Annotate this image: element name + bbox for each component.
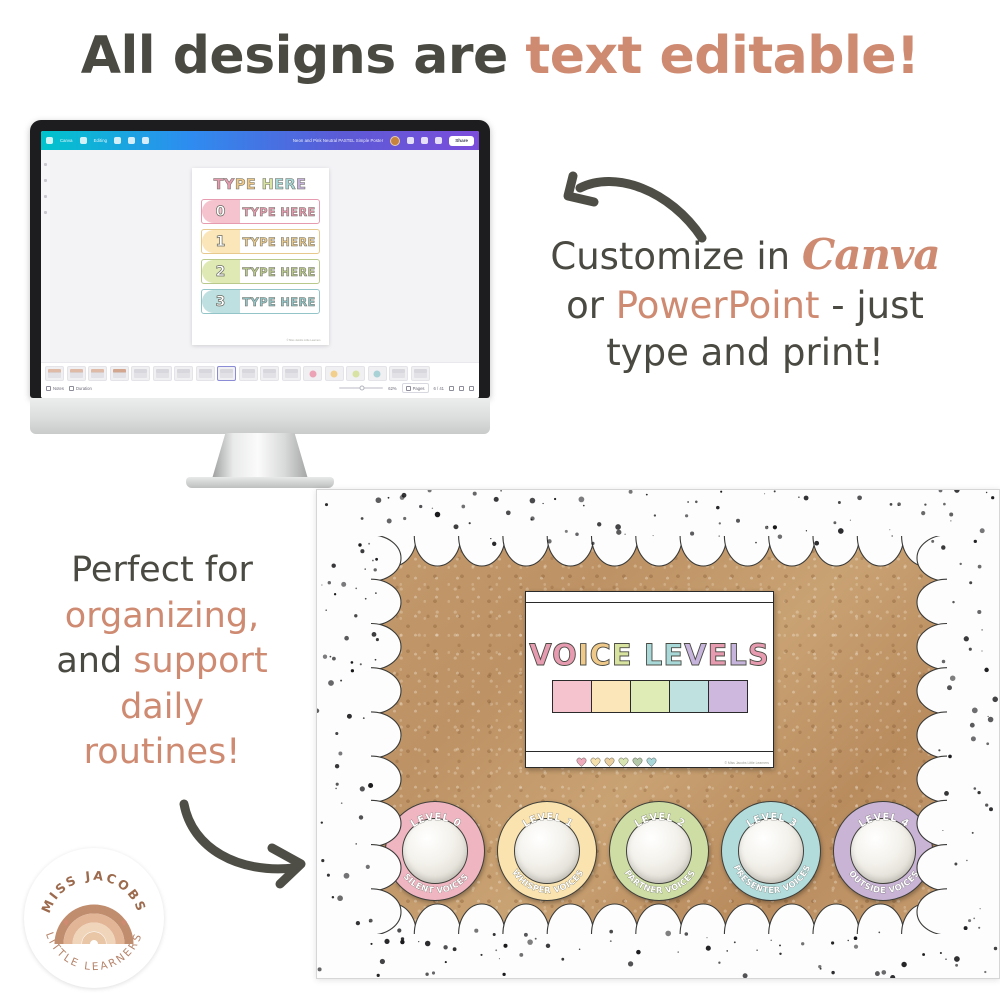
page-thumbnail[interactable] (131, 366, 150, 381)
monitor-screen: Canva Editing Neon and Pink Neutral PAST… (41, 131, 479, 398)
cloud-saved-icon (142, 137, 149, 144)
page-counter: 6 / 41 (434, 386, 444, 391)
headline-plain: All designs are (81, 26, 526, 86)
slide-level-number: 2 (216, 264, 226, 280)
share-button[interactable]: Share (449, 136, 474, 146)
slide-level-label[interactable]: TYPE HERE (240, 265, 319, 279)
slide-level-rows: 0TYPE HERE1TYPE HERE2TYPE HERE3TYPE HERE (201, 199, 320, 314)
page-thumbnail[interactable] (303, 366, 322, 381)
page-thumbnail[interactable] (174, 366, 193, 381)
computer-monitor-mockup: Canva Editing Neon and Pink Neutral PAST… (30, 120, 490, 475)
canva-bottom-panel: Notes Duration 62% Pages (41, 362, 479, 398)
canva-mode-editing[interactable]: Editing (94, 138, 108, 143)
powerpoint-wordmark: PowerPoint (616, 284, 820, 327)
left-caption: Perfect for organizing, and support dail… (14, 548, 310, 776)
canva-home-icon[interactable] (46, 137, 53, 144)
left-caption-line2: organizing, (14, 594, 310, 640)
slide-level-number: 0 (216, 204, 226, 220)
page-thumbnail-strip[interactable] (41, 363, 479, 381)
left-line3-plain: and (56, 641, 133, 681)
slide-title[interactable]: TYPE HERE (201, 178, 320, 193)
download-icon[interactable] (421, 137, 428, 144)
left-caption-line5: routines! (14, 730, 310, 776)
page-thumbnail[interactable] (325, 366, 344, 381)
canva-canvas-area: TYPE HERE 0TYPE HERE1TYPE HERE2TYPE HERE… (41, 150, 479, 362)
page-thumbnail[interactable] (110, 366, 129, 381)
slide-level-label[interactable]: TYPE HERE (240, 295, 319, 309)
avatar[interactable] (390, 136, 400, 146)
canva-wordmark: Canva (802, 230, 940, 279)
right-caption-line1: Customize in Canva (500, 228, 990, 282)
pencil-icon[interactable] (80, 137, 87, 144)
zoom-slider[interactable] (339, 387, 383, 389)
slide-credit: © Miss Jacobs Little Learners (286, 339, 320, 342)
slide-level-number-chip: 1 (202, 230, 240, 253)
page-thumbnail[interactable] (346, 366, 365, 381)
bulletin-board-photo: VOICE LEVELS © Miss Jacobs Little Learne… (316, 489, 1000, 979)
slide-level-number-chip: 2 (202, 260, 240, 283)
poster-canvas: All designs are text editable! Canva Edi… (0, 0, 1000, 1000)
plus-collaborator-icon[interactable] (407, 137, 414, 144)
headline-accent: text editable! (525, 26, 919, 86)
page-thumbnail[interactable] (45, 366, 64, 381)
speckle-dots (317, 490, 1000, 979)
logo-artwork: MISS JACOBS LITTLE LEARNERS (24, 848, 164, 988)
left-caption-line1: Perfect for (14, 548, 310, 594)
right-line1-plain: Customize in (550, 235, 801, 278)
duration-button[interactable]: Duration (69, 386, 92, 391)
page-thumbnail[interactable] (196, 366, 215, 381)
right-caption-line3: type and print! (500, 329, 990, 376)
monitor-stand-neck (212, 433, 308, 479)
slide-level-row[interactable]: 3TYPE HERE (201, 289, 320, 314)
undo-icon[interactable] (114, 137, 121, 144)
slide-level-number-chip: 0 (202, 200, 240, 223)
arrow-pointing-to-board-icon (168, 790, 328, 890)
slide-level-label[interactable]: TYPE HERE (240, 205, 319, 219)
right-line2-b: - just (819, 284, 923, 327)
right-caption-line2: or PowerPoint - just (500, 282, 990, 329)
slide-level-number: 3 (216, 294, 226, 310)
monitor-stand-foot (186, 477, 334, 488)
slide-level-number: 1 (216, 234, 226, 250)
grid-view-icon[interactable] (449, 386, 454, 391)
slide-level-row[interactable]: 2TYPE HERE (201, 259, 320, 284)
notes-label: Notes (53, 386, 64, 391)
slide-artboard[interactable]: TYPE HERE 0TYPE HERE1TYPE HERE2TYPE HERE… (192, 168, 329, 345)
logo-disc: MISS JACOBS LITTLE LEARNERS (24, 848, 164, 988)
duration-icon (69, 386, 74, 391)
slide-level-number-chip: 3 (202, 290, 240, 313)
pages-button[interactable]: Pages (402, 383, 429, 393)
slide-level-label[interactable]: TYPE HERE (240, 235, 319, 249)
monitor-chin (30, 398, 490, 434)
notes-icon (46, 386, 51, 391)
page-thumbnail[interactable] (239, 366, 258, 381)
left-caption-line4: daily (14, 685, 310, 731)
page-thumbnail[interactable] (67, 366, 86, 381)
left-caption-line3: and support (14, 639, 310, 685)
help-icon[interactable] (469, 386, 474, 391)
brand-logo: MISS JACOBS LITTLE LEARNERS (24, 848, 164, 988)
page-thumbnail[interactable] (217, 366, 236, 381)
slide-level-row[interactable]: 1TYPE HERE (201, 229, 320, 254)
page-thumbnail[interactable] (153, 366, 172, 381)
right-line2-a: or (566, 284, 616, 327)
page-thumbnail[interactable] (260, 366, 279, 381)
canva-menu-file[interactable]: Canva (60, 138, 73, 143)
fullscreen-icon[interactable] (459, 386, 464, 391)
right-caption: Customize in Canva or PowerPoint - just … (500, 228, 990, 376)
zoom-level-label: 62% (388, 386, 396, 391)
slide-level-row[interactable]: 0TYPE HERE (201, 199, 320, 224)
speckled-white-border (317, 490, 999, 978)
page-thumbnail[interactable] (282, 366, 301, 381)
monitor-bezel: Canva Editing Neon and Pink Neutral PAST… (30, 120, 490, 398)
page-thumbnail[interactable] (389, 366, 408, 381)
left-line3-accent: support (133, 641, 267, 681)
canva-status-bar: Notes Duration 62% Pages (41, 381, 479, 393)
canva-toolbar: Canva Editing Neon and Pink Neutral PAST… (41, 131, 479, 150)
page-thumbnail[interactable] (368, 366, 387, 381)
rainbow-arch-icon (59, 909, 129, 944)
notes-button[interactable]: Notes (46, 386, 64, 391)
pages-label: Pages (413, 386, 425, 391)
page-thumbnail[interactable] (411, 366, 430, 381)
pages-icon (406, 386, 411, 391)
document-filename[interactable]: Neon and Pink Neutral PASTEL Simple Post… (293, 138, 383, 143)
page-title: All designs are text editable! (0, 26, 1000, 86)
page-thumbnail[interactable] (88, 366, 107, 381)
comment-icon[interactable] (435, 137, 442, 144)
zoom-slider-knob[interactable] (360, 386, 365, 391)
duration-label: Duration (76, 386, 92, 391)
redo-icon[interactable] (128, 137, 135, 144)
